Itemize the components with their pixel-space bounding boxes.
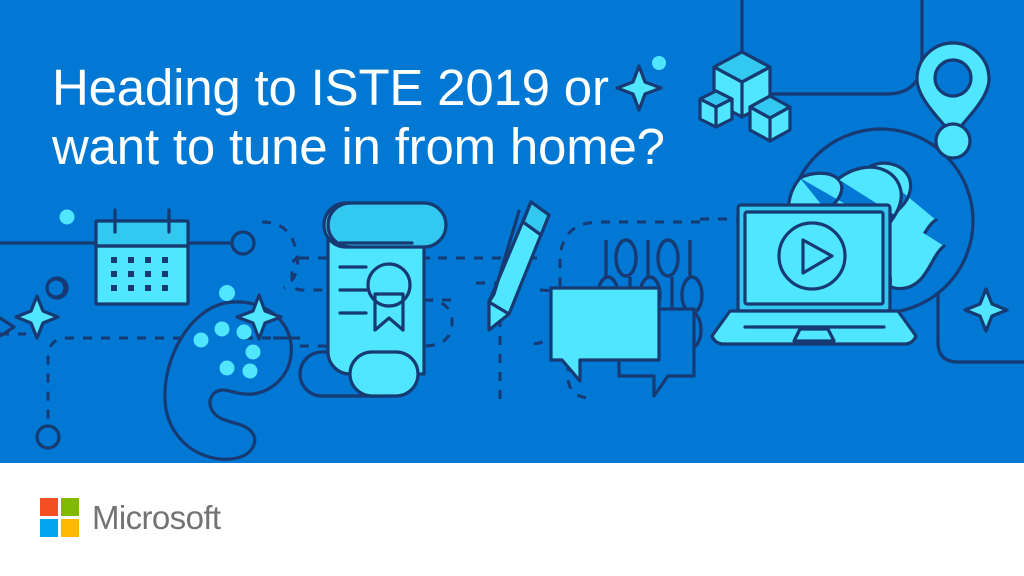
banner-canvas: .st { stroke:#173A73; stroke-width:3.2; …: [0, 0, 1024, 576]
node-circle: [60, 210, 75, 225]
paint-dot: [219, 285, 235, 301]
laptop-video-icon: [712, 205, 916, 344]
paint-dot: [237, 325, 252, 340]
paint-dot: [194, 333, 209, 348]
page-title: Heading to ISTE 2019 or want to tune in …: [52, 58, 732, 176]
microsoft-wordmark: Microsoft: [92, 501, 220, 534]
node-circle: [37, 426, 59, 448]
node-circle: [232, 232, 254, 254]
dashed-connector-line: [262, 222, 298, 288]
cube-medium-icon: [750, 96, 790, 141]
node-circle: [47, 279, 65, 297]
paint-dot: [246, 345, 261, 360]
connector-line: [0, 318, 14, 336]
calendar-icon: [96, 210, 188, 304]
dashed-connector-line: [48, 338, 182, 424]
yellow-square: [61, 519, 79, 537]
certificate-scroll-icon: [300, 203, 446, 396]
pin-base-circle: [936, 124, 970, 158]
sparkle-icon: [16, 296, 58, 338]
microsoft-logo: Microsoft: [40, 498, 220, 537]
sparkle-icon: [965, 289, 1007, 331]
headline-line-1: Heading to ISTE 2019 or: [52, 58, 732, 117]
microsoft-logo-squares: [40, 498, 79, 537]
artist-palette-icon: [165, 285, 291, 459]
hero-section: .st { stroke:#173A73; stroke-width:3.2; …: [0, 0, 1024, 463]
red-square: [40, 498, 58, 516]
blue-square: [40, 519, 58, 537]
pen-icon: [489, 202, 549, 330]
paint-dot: [220, 361, 235, 376]
green-square: [61, 498, 79, 516]
headline-line-2: want to tune in from home?: [52, 117, 732, 176]
paint-dot: [243, 364, 258, 379]
paint-dot: [215, 322, 230, 337]
connector-line: [767, 0, 922, 94]
